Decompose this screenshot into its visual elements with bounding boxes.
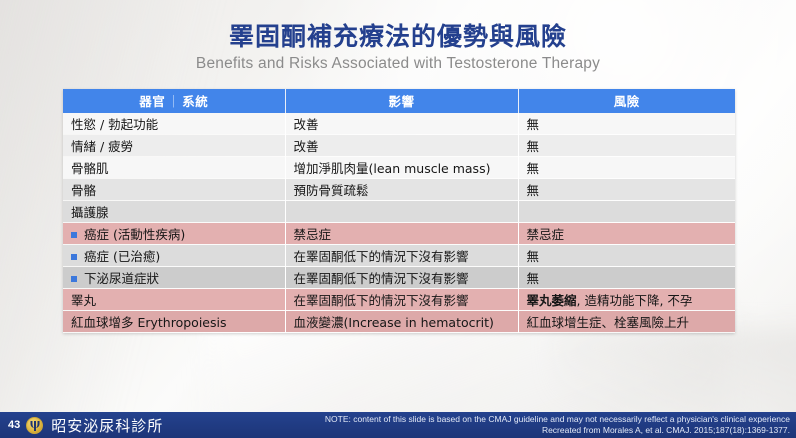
cell-effect-label: 改善 [294, 139, 319, 154]
table-row: 情緒 / 疲勞改善無 [63, 135, 735, 157]
table-row: 骨骼肌增加淨肌肉量(lean muscle mass)無 [63, 157, 735, 179]
cell-organ-label: 骨骼 [71, 183, 96, 198]
cell-risk-label: , 造精功能下降, 不孕 [577, 293, 693, 308]
cell-effect-label: 改善 [294, 117, 319, 132]
cell-organ-label: 紅血球增多 Erythropoiesis [71, 315, 227, 330]
benefits-risks-table: 器官｜系統 影響 風險 性慾 / 勃起功能改善無情緒 / 疲勞改善無骨骼肌增加淨… [63, 89, 735, 333]
source-note-line-2: Recreated from Morales A, et al. CMAJ. 2… [325, 425, 790, 436]
cell-risk: 禁忌症 [518, 223, 735, 245]
column-header-organ-main: 器官 [139, 94, 165, 109]
bullet-square-icon [71, 276, 77, 282]
cell-effect-label: 禁忌症 [294, 227, 332, 242]
column-header-organ-sub: 系統 [182, 94, 208, 109]
cell-organ-label: 癌症 (活動性疾病) [84, 227, 185, 242]
cell-risk: 無 [518, 135, 735, 157]
cell-effect-label: 血液變濃(Increase in hematocrit) [294, 315, 494, 330]
cell-effect: 在睪固酮低下的情況下沒有影響 [285, 289, 518, 311]
cell-organ-label: 下泌尿道症狀 [84, 271, 159, 286]
cell-organ: 癌症 (已治癒) [63, 245, 285, 267]
cell-risk: 無 [518, 113, 735, 135]
cell-risk: 無 [518, 157, 735, 179]
page-title: 睪固酮補充療法的優勢與風險 [0, 22, 796, 52]
table-header-row: 器官｜系統 影響 風險 [63, 89, 735, 113]
cell-effect: 在睪固酮低下的情況下沒有影響 [285, 245, 518, 267]
cell-organ: 紅血球增多 Erythropoiesis [63, 311, 285, 333]
column-header-separator: ｜ [165, 94, 182, 109]
slide-heading: 睪固酮補充療法的優勢與風險 Benefits and Risks Associa… [0, 22, 796, 73]
table-row: 紅血球增多 Erythropoiesis血液變濃(Increase in hem… [63, 311, 735, 333]
cell-effect: 禁忌症 [285, 223, 518, 245]
clinic-logo-icon [26, 417, 43, 434]
cell-risk-label: 無 [527, 249, 540, 264]
cell-risk-label: 無 [527, 139, 540, 154]
cell-risk: 睪丸萎縮, 造精功能下降, 不孕 [518, 289, 735, 311]
cell-risk-label: 無 [527, 271, 540, 286]
cell-effect [285, 201, 518, 223]
source-note-line-1: NOTE: content of this slide is based on … [325, 414, 790, 425]
bullet-square-icon [71, 232, 77, 238]
cell-organ-label: 情緒 / 疲勞 [71, 139, 133, 154]
page-subtitle: Benefits and Risks Associated with Testo… [0, 55, 796, 74]
table-row: 癌症 (活動性疾病)禁忌症禁忌症 [63, 223, 735, 245]
cell-risk-label: 禁忌症 [527, 227, 565, 242]
cell-risk-label: 無 [527, 183, 540, 198]
cell-risk: 無 [518, 245, 735, 267]
cell-effect-label: 在睪固酮低下的情況下沒有影響 [294, 293, 469, 308]
cell-risk: 無 [518, 179, 735, 201]
cell-risk-label: 無 [527, 117, 540, 132]
slide-number: 43 [8, 419, 20, 431]
cell-organ: 骨骼 [63, 179, 285, 201]
cell-organ: 骨骼肌 [63, 157, 285, 179]
column-header-organ: 器官｜系統 [63, 89, 285, 113]
cell-organ: 攝護腺 [63, 201, 285, 223]
column-header-effect: 影響 [285, 89, 518, 113]
cell-risk: 紅血球增生症、栓塞風險上升 [518, 311, 735, 333]
table-header: 器官｜系統 影響 風險 [63, 89, 735, 113]
table-row: 性慾 / 勃起功能改善無 [63, 113, 735, 135]
cell-risk [518, 201, 735, 223]
source-note: NOTE: content of this slide is based on … [325, 414, 790, 435]
cell-effect-label: 在睪固酮低下的情況下沒有影響 [294, 271, 469, 286]
cell-risk-label: 紅血球增生症、栓塞風險上升 [527, 315, 690, 330]
cell-organ-label: 癌症 (已治癒) [84, 249, 160, 264]
cell-risk-emphasis: 睪丸萎縮 [527, 293, 577, 308]
cell-risk: 無 [518, 267, 735, 289]
cell-effect: 改善 [285, 135, 518, 157]
cell-organ-label: 骨骼肌 [71, 161, 109, 176]
table-row: 下泌尿道症狀在睪固酮低下的情況下沒有影響無 [63, 267, 735, 289]
cell-organ: 睪丸 [63, 289, 285, 311]
cell-effect-label: 在睪固酮低下的情況下沒有影響 [294, 249, 469, 264]
table-row: 癌症 (已治癒)在睪固酮低下的情況下沒有影響無 [63, 245, 735, 267]
clinic-name: 昭安泌尿科診所 [51, 415, 163, 436]
cell-organ: 癌症 (活動性疾病) [63, 223, 285, 245]
table-row: 攝護腺 [63, 201, 735, 223]
cell-risk-label: 無 [527, 161, 540, 176]
cell-effect: 在睪固酮低下的情況下沒有影響 [285, 267, 518, 289]
cell-organ: 下泌尿道症狀 [63, 267, 285, 289]
slide-footer: 43 昭安泌尿科診所 NOTE: content of this slide i… [0, 412, 796, 438]
cell-effect-label: 增加淨肌肉量(lean muscle mass) [294, 161, 491, 176]
slide-canvas: 睪固酮補充療法的優勢與風險 Benefits and Risks Associa… [0, 0, 796, 438]
cell-organ-label: 攝護腺 [71, 205, 109, 220]
cell-effect: 血液變濃(Increase in hematocrit) [285, 311, 518, 333]
cell-organ-label: 睪丸 [71, 293, 96, 308]
column-header-risk: 風險 [518, 89, 735, 113]
table-body: 性慾 / 勃起功能改善無情緒 / 疲勞改善無骨骼肌增加淨肌肉量(lean mus… [63, 113, 735, 333]
cell-effect-label: 預防骨質疏鬆 [294, 183, 369, 198]
cell-organ-label: 性慾 / 勃起功能 [71, 117, 158, 132]
bullet-square-icon [71, 254, 77, 260]
table-row: 睪丸在睪固酮低下的情況下沒有影響睪丸萎縮, 造精功能下降, 不孕 [63, 289, 735, 311]
cell-effect: 預防骨質疏鬆 [285, 179, 518, 201]
cell-organ: 情緒 / 疲勞 [63, 135, 285, 157]
cell-effect: 改善 [285, 113, 518, 135]
cell-effect: 增加淨肌肉量(lean muscle mass) [285, 157, 518, 179]
table-row: 骨骼預防骨質疏鬆無 [63, 179, 735, 201]
cell-organ: 性慾 / 勃起功能 [63, 113, 285, 135]
